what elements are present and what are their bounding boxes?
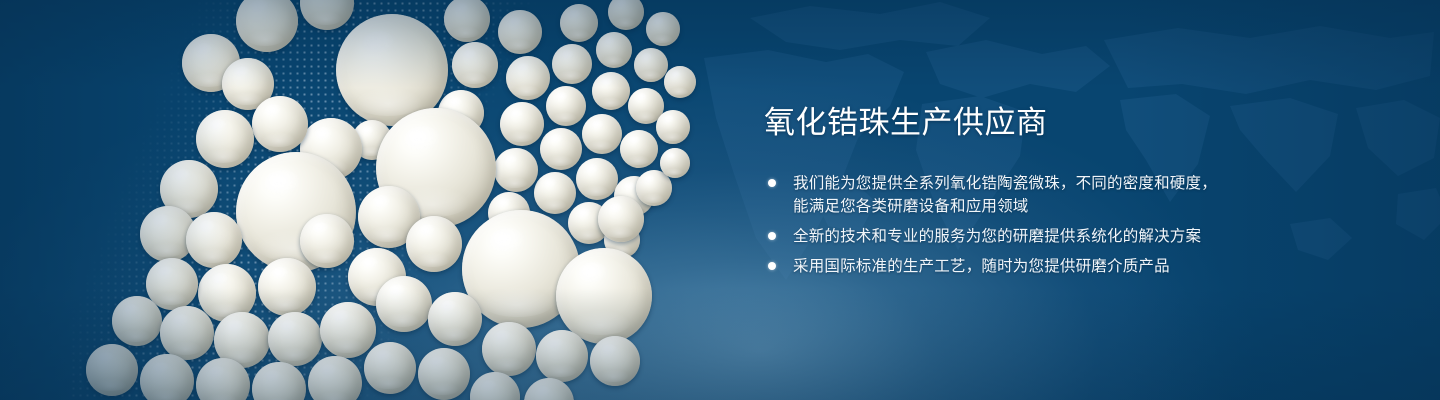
banner-copy: 氧化锆珠生产供应商 我们能为您提供全系列氧化锆陶瓷微珠，不同的密度和硬度， 能满… [764, 104, 1234, 278]
page-title: 氧化锆珠生产供应商 [764, 104, 1234, 142]
list-item: 全新的技术和专业的服务为您的研磨提供系统化的解决方案 [764, 225, 1234, 248]
list-item-line: 能满足您各类研磨设备和应用领域 [793, 195, 1234, 218]
list-item-line: 采用国际标准的生产工艺，随时为您提供研磨介质产品 [793, 255, 1234, 278]
hero-banner: 氧化锆珠生产供应商 我们能为您提供全系列氧化锆陶瓷微珠，不同的密度和硬度， 能满… [0, 0, 1440, 400]
bullet-dot-icon [768, 262, 776, 270]
bullet-dot-icon [768, 179, 776, 187]
list-item: 采用国际标准的生产工艺，随时为您提供研磨介质产品 [764, 255, 1234, 278]
list-item: 我们能为您提供全系列氧化锆陶瓷微珠，不同的密度和硬度， 能满足您各类研磨设备和应… [764, 172, 1234, 218]
list-item-line: 我们能为您提供全系列氧化锆陶瓷微珠，不同的密度和硬度， [793, 172, 1234, 195]
bullet-dot-icon [768, 232, 776, 240]
feature-list: 我们能为您提供全系列氧化锆陶瓷微珠，不同的密度和硬度， 能满足您各类研磨设备和应… [764, 172, 1234, 278]
list-item-line: 全新的技术和专业的服务为您的研磨提供系统化的解决方案 [793, 225, 1234, 248]
